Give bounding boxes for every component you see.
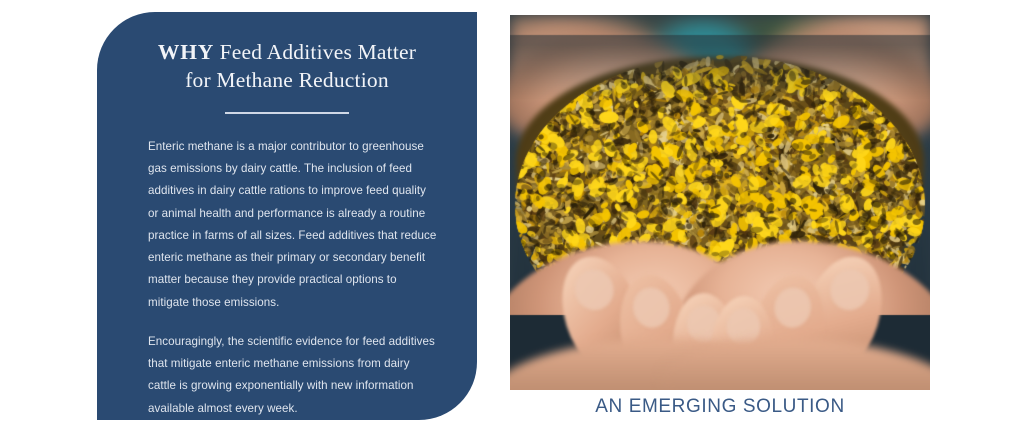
page-title-rest: Feed Additives Matter for Methane Reduct… (185, 40, 416, 92)
panel-body: Enteric methane is a major contributor t… (97, 114, 477, 420)
page-title-emphasis: WHY (158, 40, 214, 64)
paragraph-1: Enteric methane is a major contributor t… (148, 136, 437, 314)
hands-holding-feed-photo (510, 15, 930, 390)
photo-block (510, 15, 930, 390)
fingers-overlay (510, 15, 930, 390)
photo-caption: AN EMERGING SOLUTION (510, 396, 930, 418)
page-title: WHY Feed Additives Matter for Methane Re… (97, 12, 477, 95)
info-panel: WHY Feed Additives Matter for Methane Re… (97, 12, 477, 420)
paragraph-2: Encouragingly, the scientific evidence f… (148, 331, 437, 420)
